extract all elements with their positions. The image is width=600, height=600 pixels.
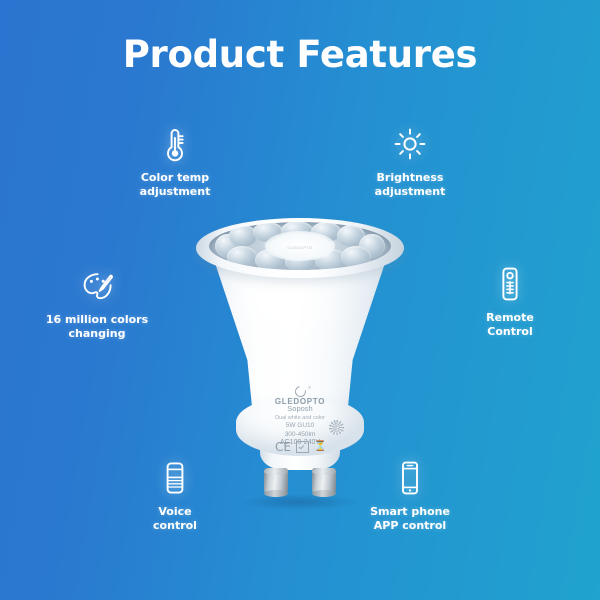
feature-label: Color temp adjustment (110, 171, 240, 199)
feature-color-temp: Color temp adjustment (110, 124, 240, 199)
product-features-infographic: Product Features Color temp adjustment (0, 0, 600, 600)
registered-mark: ® (308, 386, 311, 391)
page-title: Product Features (0, 33, 600, 76)
lens-emblem: GLEDOPTO (265, 231, 335, 261)
thermometer-icon (155, 124, 195, 164)
smart-speaker-icon (155, 458, 195, 498)
model-name: Soposh (250, 405, 350, 414)
product-shadow (242, 494, 358, 510)
certification-marks: CE ⏳ (246, 440, 354, 454)
weee-mark-icon: ⏳ (314, 442, 325, 452)
remote-control-icon (490, 264, 530, 304)
energy-roundel-icon (329, 420, 344, 435)
bulb-rim: GLEDOPTO (196, 218, 404, 278)
feature-colors: 16 million colors changing (32, 266, 162, 341)
ce-mark-icon: CE (275, 441, 291, 453)
lens-emblem-text: GLEDOPTO (265, 245, 335, 250)
gu10-pin-right (312, 468, 336, 494)
gu10-pin-left (264, 468, 288, 494)
checked-box-mark-icon (296, 441, 309, 453)
product-image-gu10-bulb: GLEDOPTO ® GLEDOPTO Soposh Dual white an… (196, 218, 404, 510)
feature-label: Brightness adjustment (345, 171, 475, 199)
bulb-lens: GLEDOPTO (209, 222, 391, 270)
product-label: ® GLEDOPTO Soposh Dual white and color 5… (250, 386, 350, 448)
feature-brightness: Brightness adjustment (345, 124, 475, 199)
feature-label: Remote Control (445, 311, 575, 339)
feature-label: 16 million colors changing (32, 313, 162, 341)
feature-remote-control: Remote Control (445, 264, 575, 339)
sun-icon (390, 124, 430, 164)
palette-icon (77, 266, 117, 306)
